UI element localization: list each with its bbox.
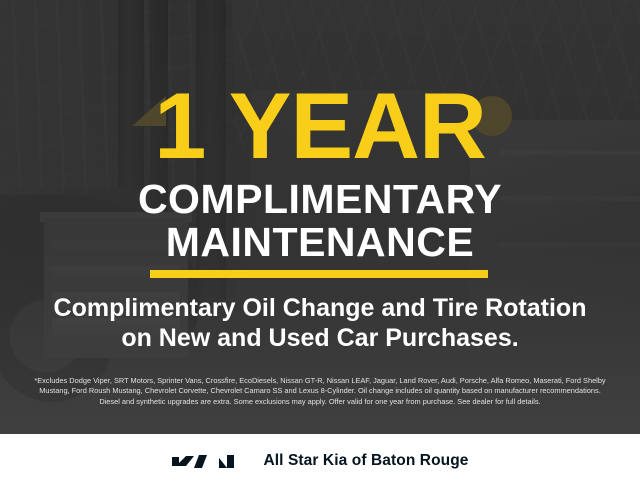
subheading-line-2: on New and Used Car Purchases. (0, 323, 640, 353)
disclaimer-line: Diesel and synthetic upgrades are extra.… (8, 397, 632, 407)
title-line-complimentary: COMPLIMENTARY (0, 179, 640, 220)
title-line-maintenance: MAINTENANCE (0, 222, 640, 263)
banner-content: 1 YEAR COMPLIMENTARY MAINTENANCE Complim… (0, 0, 640, 434)
dealer-name: All Star Kia of Baton Rouge (263, 452, 468, 470)
promotional-banner: 1 YEAR COMPLIMENTARY MAINTENANCE Complim… (0, 0, 640, 488)
footer-bar: All Star Kia of Baton Rouge (0, 434, 640, 488)
disclaimer-line: *Excludes Dodge Viper, SRT Motors, Sprin… (8, 376, 632, 386)
headline-1-year: 1 YEAR (0, 79, 640, 173)
kia-logo (171, 451, 245, 472)
disclaimer-text: *Excludes Dodge Viper, SRT Motors, Sprin… (8, 376, 632, 407)
subheading-line-1: Complimentary Oil Change and Tire Rotati… (0, 293, 640, 323)
yellow-divider-rule (150, 270, 488, 278)
disclaimer-line: Mustang, Ford Roush Mustang, Chevrolet C… (8, 386, 632, 396)
